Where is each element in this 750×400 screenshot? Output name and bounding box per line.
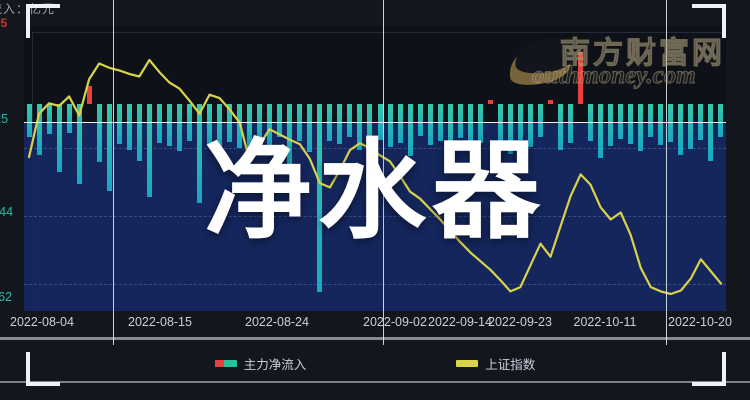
selection-bracket-br[interactable]	[692, 352, 726, 386]
legend-swatch-icon	[456, 360, 478, 367]
x-axis-label: 2022-08-04	[10, 315, 74, 329]
legend-label: 上证指数	[485, 354, 535, 373]
x-axis-label: 2022-08-24	[245, 315, 309, 329]
zero-axis-line	[24, 122, 726, 123]
x-axis-label: 2022-10-20	[668, 315, 732, 329]
selection-bracket-bl[interactable]	[26, 352, 60, 386]
x-axis: 2022-08-042022-08-152022-08-242022-09-02…	[0, 315, 750, 335]
x-axis-label: 2022-08-15	[128, 315, 192, 329]
chart-legend: 主力净流入上证指数	[0, 352, 750, 374]
y-axis-top-value: 95	[0, 16, 7, 30]
x-axis-label: 2022-09-02	[363, 315, 427, 329]
divider	[0, 381, 750, 383]
x-axis-label: 2022-10-11	[573, 315, 636, 329]
divider	[0, 337, 750, 340]
selection-bracket-tl[interactable]	[26, 4, 60, 38]
screenshot-root: 流入：亿元 95 0 -25 -644 -62 2022-08-042022-0…	[0, 0, 750, 400]
selection-bracket-tr[interactable]	[692, 4, 726, 38]
x-axis-label: 2022-09-14	[428, 315, 492, 329]
legend-item[interactable]: 上证指数	[456, 354, 535, 373]
overlay-title: 净水器	[0, 138, 750, 246]
x-axis-label: 2022-09-23	[488, 315, 552, 329]
legend-item[interactable]: 主力净流入	[215, 354, 307, 373]
legend-label: 主力净流入	[244, 354, 307, 373]
y-axis-label-3: -62	[0, 290, 12, 304]
legend-swatch-icon	[215, 360, 237, 367]
y-axis-label-1: -25	[0, 112, 8, 126]
